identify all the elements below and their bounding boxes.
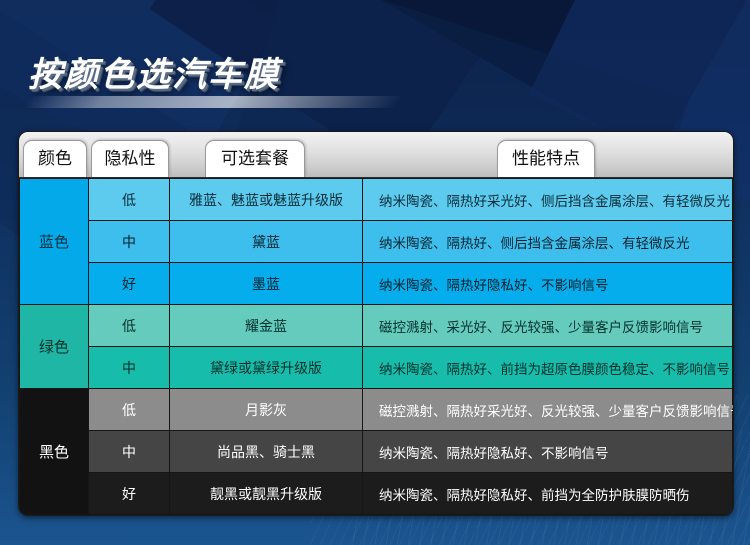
privacy-cell: 低 xyxy=(89,179,170,221)
package-cell: 耀金蓝 xyxy=(170,305,363,347)
title-underline-swoosh xyxy=(25,96,402,108)
color-group-cell: 黑色 xyxy=(20,389,89,515)
features-cell: 纳米陶瓷、隔热好、前挡为超原色膜颜色稳定、不影响信号 xyxy=(363,347,733,389)
features-cell: 纳米陶瓷、隔热好隐私好、不影响信号 xyxy=(363,263,733,305)
privacy-cell: 低 xyxy=(89,305,170,347)
table-row: 黑色低月影灰磁控溅射、隔热好采光好、反光较强、少量客户反馈影响信号 xyxy=(20,389,733,431)
privacy-cell: 中 xyxy=(89,347,170,389)
privacy-cell: 好 xyxy=(89,473,170,515)
features-cell: 纳米陶瓷、隔热好采光好、侧后挡含金属涂层、有轻微反光 xyxy=(363,179,733,221)
column-header-2: 隐私性 xyxy=(91,140,169,177)
privacy-cell: 中 xyxy=(89,221,170,263)
package-cell: 尚品黑、骑士黑 xyxy=(170,431,363,473)
package-cell: 靓黑或靓黑升级版 xyxy=(170,473,363,515)
table-header-bar: 颜色隐私性可选套餐性能特点 xyxy=(19,132,733,178)
table-row: 好墨蓝纳米陶瓷、隔热好隐私好、不影响信号 xyxy=(20,263,733,305)
features-cell: 纳米陶瓷、隔热好隐私好、前挡为全防护肤膜防晒伤 xyxy=(363,473,733,515)
table-row: 蓝色低雅蓝、魅蓝或魅蓝升级版纳米陶瓷、隔热好采光好、侧后挡含金属涂层、有轻微反光 xyxy=(20,179,733,221)
table-row: 中尚品黑、骑士黑纳米陶瓷、隔热好隐私好、不影响信号 xyxy=(20,431,733,473)
column-header-4: 性能特点 xyxy=(497,140,595,177)
privacy-cell: 好 xyxy=(89,263,170,305)
features-cell: 磁控溅射、隔热好采光好、反光较强、少量客户反馈影响信号 xyxy=(363,389,733,431)
comparison-table: 颜色隐私性可选套餐性能特点 蓝色低雅蓝、魅蓝或魅蓝升级版纳米陶瓷、隔热好采光好、… xyxy=(18,131,734,516)
package-cell: 雅蓝、魅蓝或魅蓝升级版 xyxy=(170,179,363,221)
features-cell: 纳米陶瓷、隔热好隐私好、不影响信号 xyxy=(363,431,733,473)
privacy-cell: 低 xyxy=(89,389,170,431)
page-title: 按颜色选汽车膜 xyxy=(28,47,280,96)
table-row: 中黛绿或黛绿升级版纳米陶瓷、隔热好、前挡为超原色膜颜色稳定、不影响信号 xyxy=(20,347,733,389)
features-cell: 纳米陶瓷、隔热好、侧后挡含金属涂层、有轻微反光 xyxy=(363,221,733,263)
table-row: 中黛蓝纳米陶瓷、隔热好、侧后挡含金属涂层、有轻微反光 xyxy=(20,221,733,263)
table-body: 蓝色低雅蓝、魅蓝或魅蓝升级版纳米陶瓷、隔热好采光好、侧后挡含金属涂层、有轻微反光… xyxy=(19,178,733,515)
package-cell: 月影灰 xyxy=(170,389,363,431)
color-group-cell: 蓝色 xyxy=(20,179,89,305)
poster-root: 按颜色选汽车膜 颜色隐私性可选套餐性能特点 蓝色低雅蓝、魅蓝或魅蓝升级版纳米陶瓷… xyxy=(0,0,750,545)
table-row: 绿色低耀金蓝磁控溅射、采光好、反光较强、少量客户反馈影响信号 xyxy=(20,305,733,347)
features-cell: 磁控溅射、采光好、反光较强、少量客户反馈影响信号 xyxy=(363,305,733,347)
color-group-cell: 绿色 xyxy=(20,305,89,389)
package-cell: 墨蓝 xyxy=(170,263,363,305)
column-header-1: 颜色 xyxy=(23,140,87,177)
package-cell: 黛蓝 xyxy=(170,221,363,263)
privacy-cell: 中 xyxy=(89,431,170,473)
package-cell: 黛绿或黛绿升级版 xyxy=(170,347,363,389)
table-row: 好靓黑或靓黑升级版纳米陶瓷、隔热好隐私好、前挡为全防护肤膜防晒伤 xyxy=(20,473,733,515)
column-header-3: 可选套餐 xyxy=(205,140,305,177)
